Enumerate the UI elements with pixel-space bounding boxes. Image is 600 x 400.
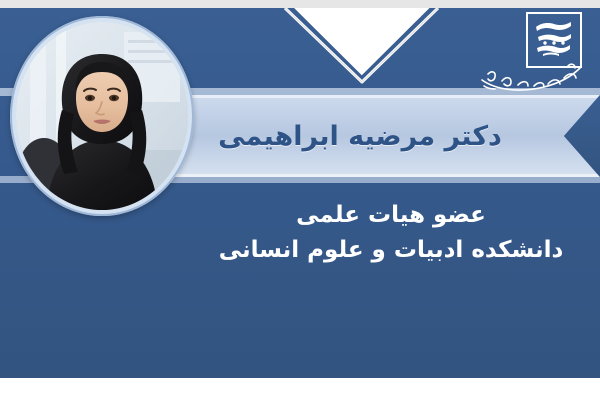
- faculty-profile-card: دکتر مرضیه ابراهیمی عضو هیات علمی دانشکد…: [0, 0, 600, 400]
- subtitle-line-department: دانشکده ادبیات و علوم انسانی: [196, 232, 586, 268]
- top-strip: [0, 0, 600, 8]
- subtitle-line-position: عضو هیات علمی: [196, 198, 586, 232]
- faculty-name: دکتر مرضیه ابراهیمی: [150, 95, 570, 177]
- portrait-avatar: [10, 16, 194, 216]
- logo-arc-script: [478, 60, 586, 96]
- faculty-subtitle: عضو هیات علمی دانشکده ادبیات و علوم انسا…: [196, 198, 586, 268]
- portrait-photo: [16, 22, 188, 210]
- university-logo: [478, 12, 586, 96]
